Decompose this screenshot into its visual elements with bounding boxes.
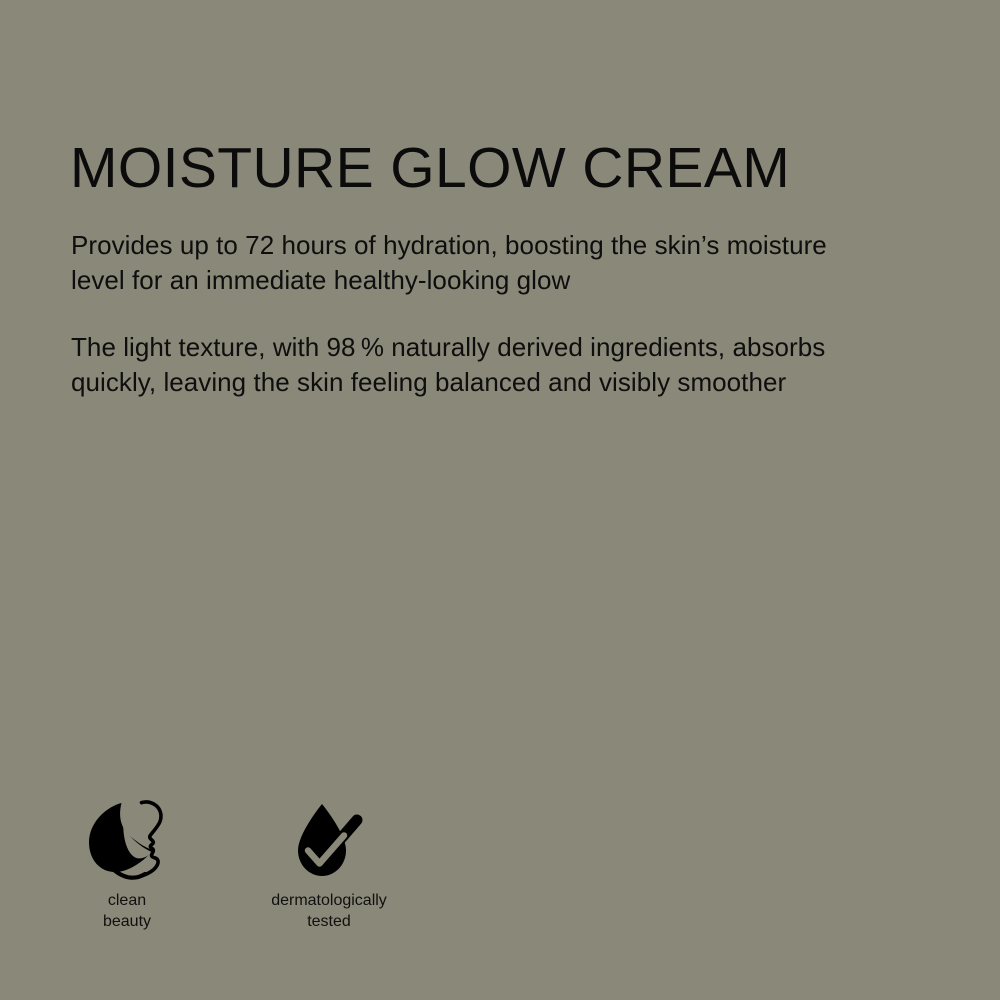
product-description: Provides up to 72 hours of hydration, bo… <box>71 228 831 400</box>
certification-badges: clean beauty dermatologically tested <box>71 800 417 932</box>
product-description-card: MOISTURE GLOW CREAM Provides up to 72 ho… <box>0 0 1000 1000</box>
badge-dermatologically-tested-label: dermatologically tested <box>241 890 417 932</box>
leaf-face-icon <box>81 800 173 886</box>
badge-clean-beauty-label: clean beauty <box>71 890 183 932</box>
description-paragraph-1: Provides up to 72 hours of hydration, bo… <box>71 228 831 298</box>
description-paragraph-2: The light texture, with 98 % naturally d… <box>71 330 831 400</box>
droplet-check-icon <box>294 800 364 886</box>
page-title: MOISTURE GLOW CREAM <box>70 136 790 200</box>
badge-clean-beauty: clean beauty <box>71 800 183 932</box>
badge-dermatologically-tested: dermatologically tested <box>241 800 417 932</box>
